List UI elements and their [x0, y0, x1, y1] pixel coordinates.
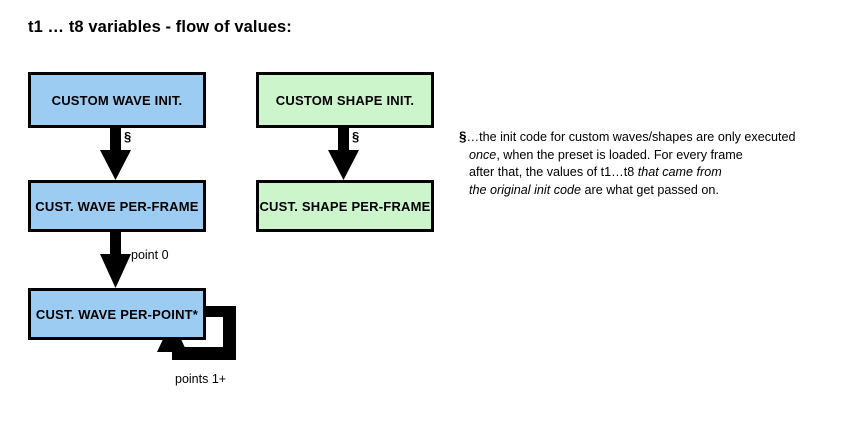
footnote-line-1: §…the init code for custom waves/shapes …	[459, 128, 839, 147]
footnote-line-2-italic: once	[469, 148, 496, 162]
node-custom-shape-init[interactable]: CUSTOM SHAPE INIT.	[256, 72, 434, 128]
diagram-canvas: t1 … t8 variables - flow of values: CUST…	[0, 0, 850, 429]
node-cust-wave-per-frame[interactable]: CUST. WAVE PER-FRAME	[28, 180, 206, 232]
footnote-line-3-text: after that, the values of t1…t8	[469, 165, 638, 179]
footnote-line-2: once, when the preset is loaded. For eve…	[459, 147, 839, 165]
footnote-line-4: the original init code are what get pass…	[459, 182, 839, 200]
edge-label-points-1-plus: points 1+	[175, 372, 226, 386]
node-cust-shape-per-frame[interactable]: CUST. SHAPE PER-FRAME	[256, 180, 434, 232]
footnote-section-mark: §	[459, 129, 467, 144]
footnote-line-4-text: are what get passed on.	[581, 183, 719, 197]
edge-label-wave-init-section-mark: §	[124, 129, 131, 144]
edge-label-shape-init-section-mark: §	[352, 129, 359, 144]
arrow-wave-frame-to-point	[100, 232, 131, 288]
footnote-line-3: after that, the values of t1…t8 that cam…	[459, 164, 839, 182]
node-cust-wave-per-point[interactable]: CUST. WAVE PER-POINT*	[28, 288, 206, 340]
edge-label-point-0: point 0	[131, 248, 169, 262]
footnote-block: §…the init code for custom waves/shapes …	[459, 128, 839, 199]
footnote-line-1-text: …the init code for custom waves/shapes a…	[467, 130, 796, 144]
node-custom-wave-init[interactable]: CUSTOM WAVE INIT.	[28, 72, 206, 128]
page-title: t1 … t8 variables - flow of values:	[28, 18, 292, 37]
footnote-line-3-italic: that came from	[638, 165, 722, 179]
footnote-line-2-text: , when the preset is loaded. For every f…	[496, 148, 742, 162]
footnote-line-4-italic: the original init code	[469, 183, 581, 197]
